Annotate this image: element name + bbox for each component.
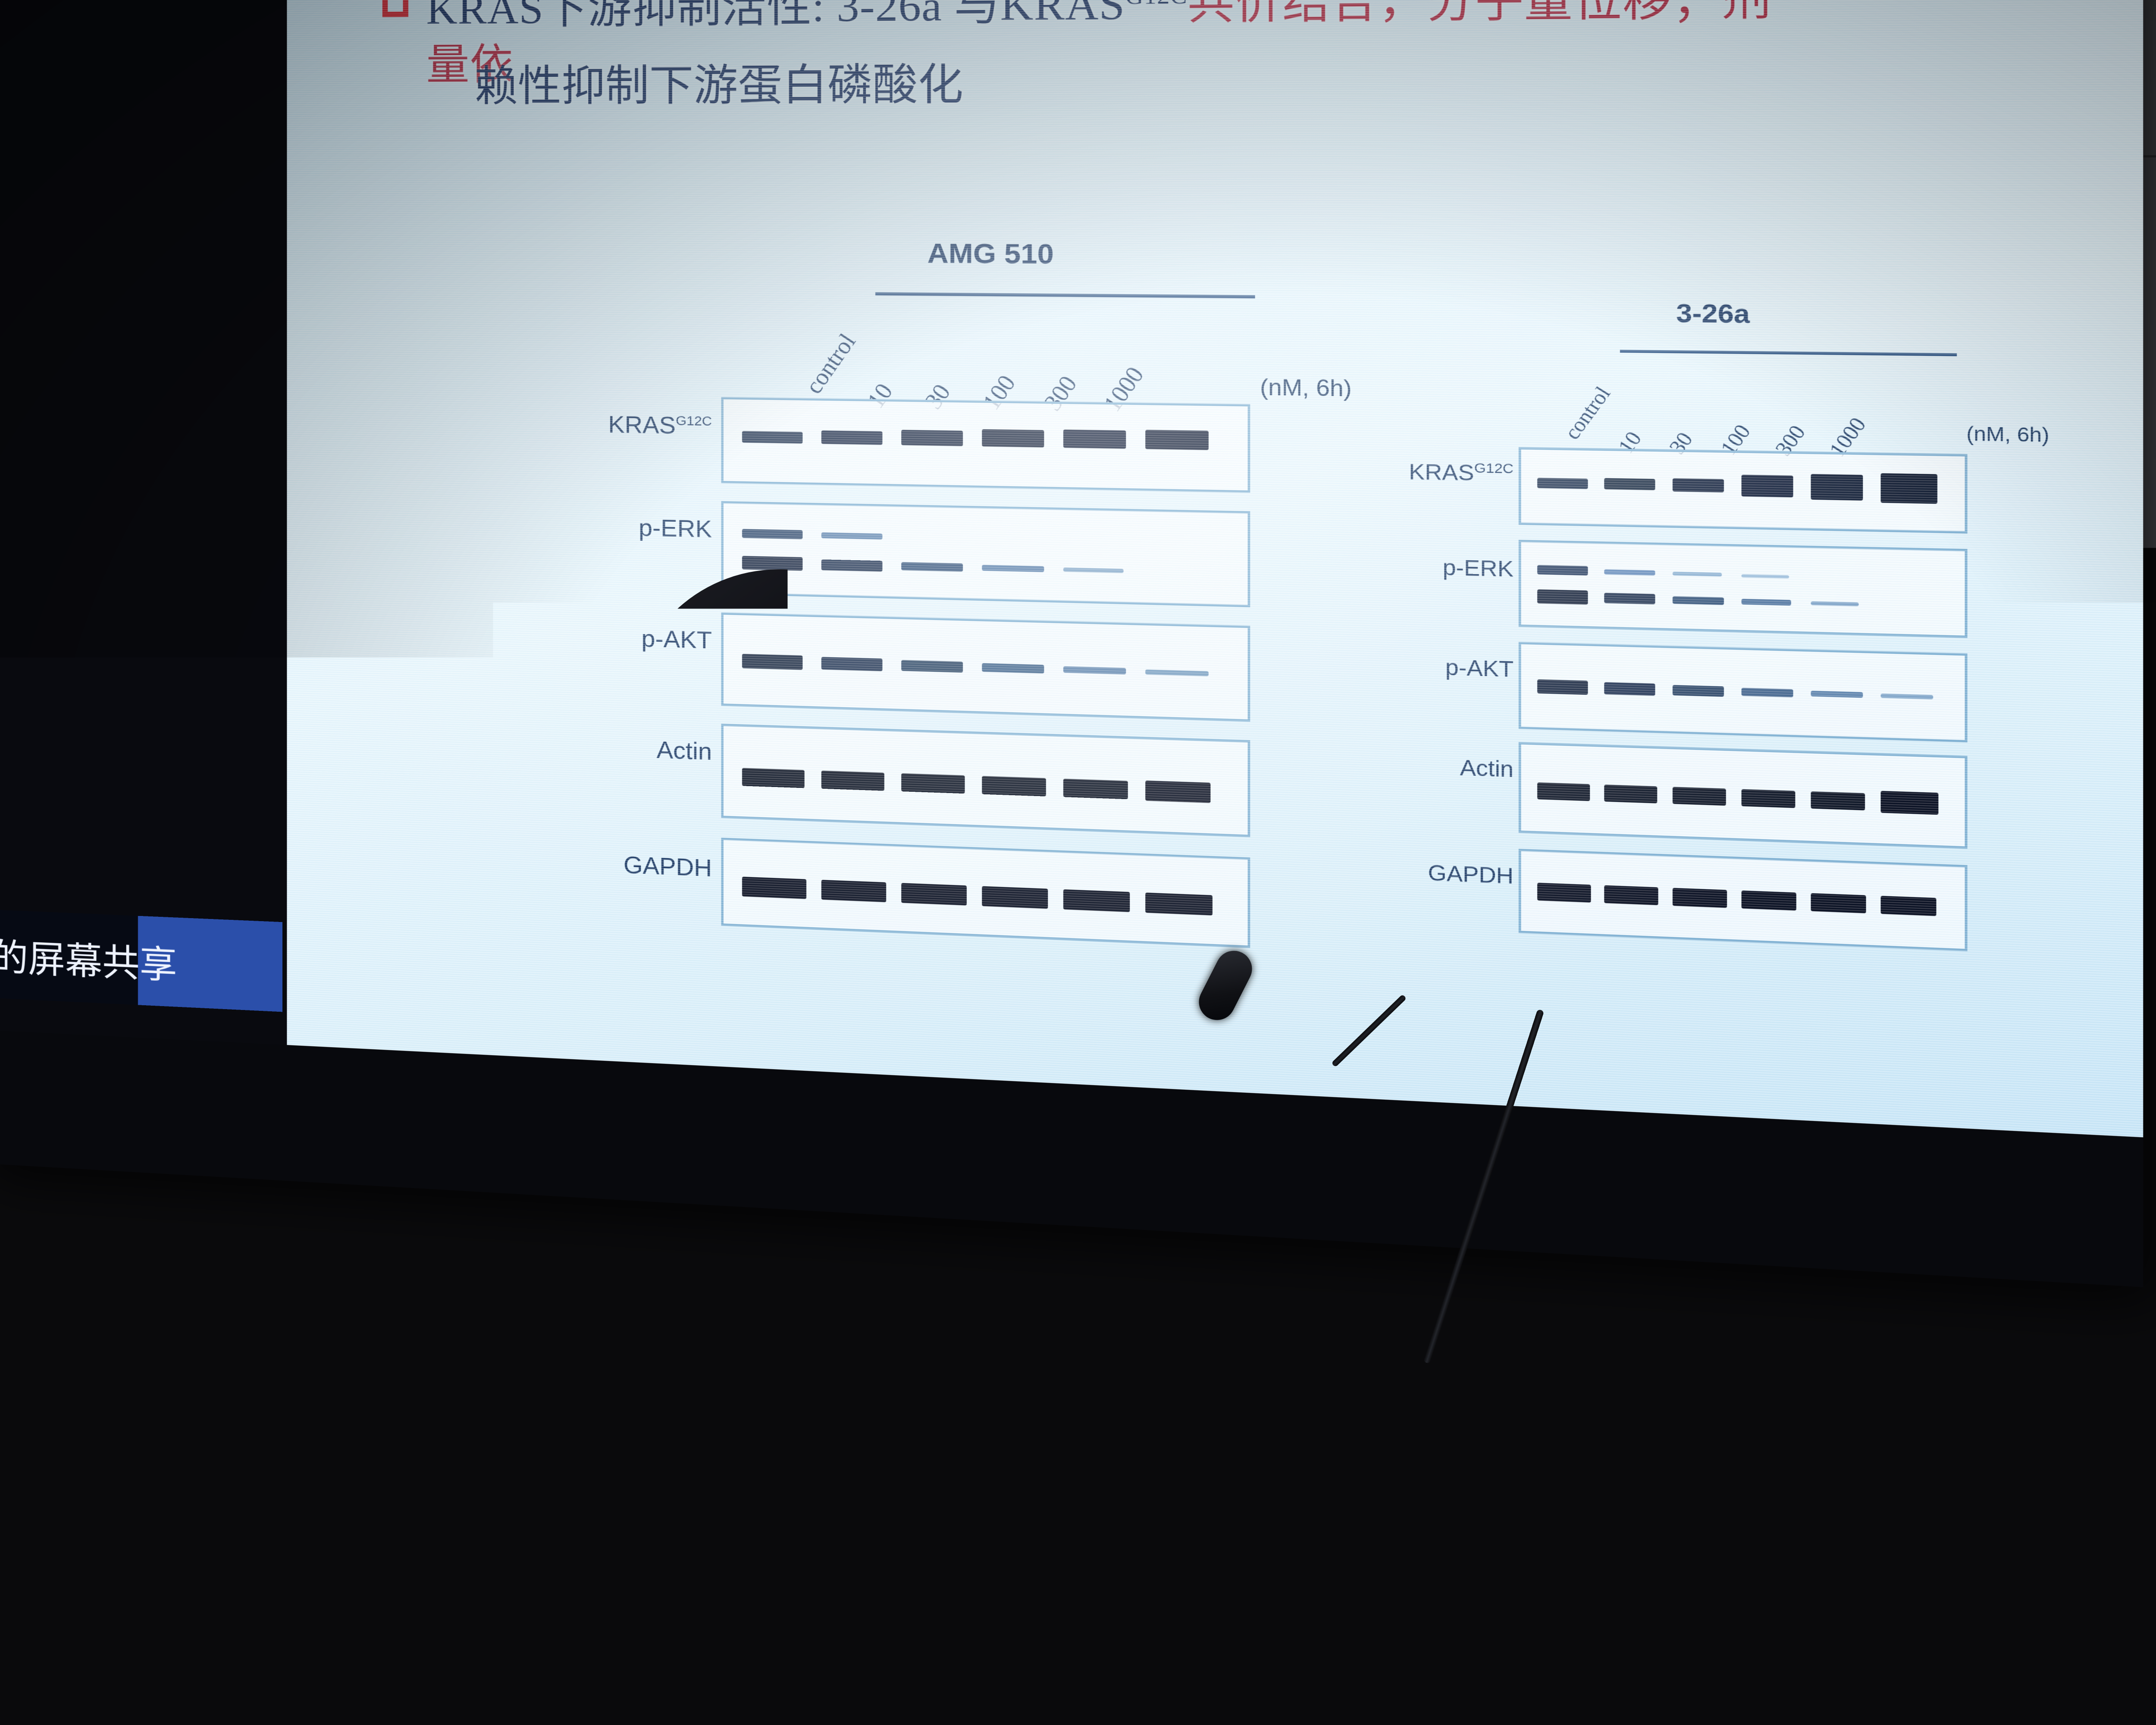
blot-compound-label-amg510: AMG 510 [928,237,1054,270]
university-emblem-anvil-icon [1648,1480,1698,1525]
row-label-perk-amg510: p-ERK [511,511,712,543]
wall-outlet-icon-2[interactable] [2007,1393,2031,1434]
screenshot-root: KRAS下游抑制活性: 3-26a 与KRASG12C共价结合，分子量位移；剂量… [0,0,2156,1725]
row-label-kras-326a: KRASG12C [1314,458,1514,487]
podium [1104,1280,1897,1725]
blot-compound-label-326a: 3-26a [1676,298,1750,329]
blot-panel-kras-326a [1519,447,1968,534]
presenter-glasses-lens [795,789,908,869]
blot-panel-kras-amg510 [721,397,1250,493]
presenter [513,569,1138,1725]
blot-panel-actin-326a [1519,742,1968,849]
blot-panel-pakt-326a [1519,642,1968,742]
lane-label: control [1559,382,1616,444]
wall-switch-icon[interactable] [2065,1378,2087,1434]
title-part-a: KRAS下游抑制活性: 3-26a 与KRAS [426,0,1125,33]
blot-panel-gapdh-326a [1519,849,1968,951]
wall-outlet-icon-1[interactable] [1977,1399,2007,1449]
lane-label: control [800,329,862,399]
row-label-kras-amg510: KRASG12C [511,409,712,440]
title-superscript: G12C [1125,0,1187,9]
bullet-square-icon [382,0,408,17]
university-emblem-year: 1896 [1656,1541,1684,1556]
blot-panel-perk-326a [1519,540,1968,638]
row-label-perk-326a: p-ERK [1314,552,1514,583]
lane-units-amg510: (nM, 6h) [1260,374,1352,402]
blot-group-326a: 3-26a control 10 30 100 300 1000 (nM, 6h… [1523,296,2143,1055]
slide-title-line2: 赖性抑制下游蛋白磷酸化 [474,49,963,113]
presenter-ear [699,811,763,897]
lane-units-326a: (nM, 6h) [1966,423,2049,447]
